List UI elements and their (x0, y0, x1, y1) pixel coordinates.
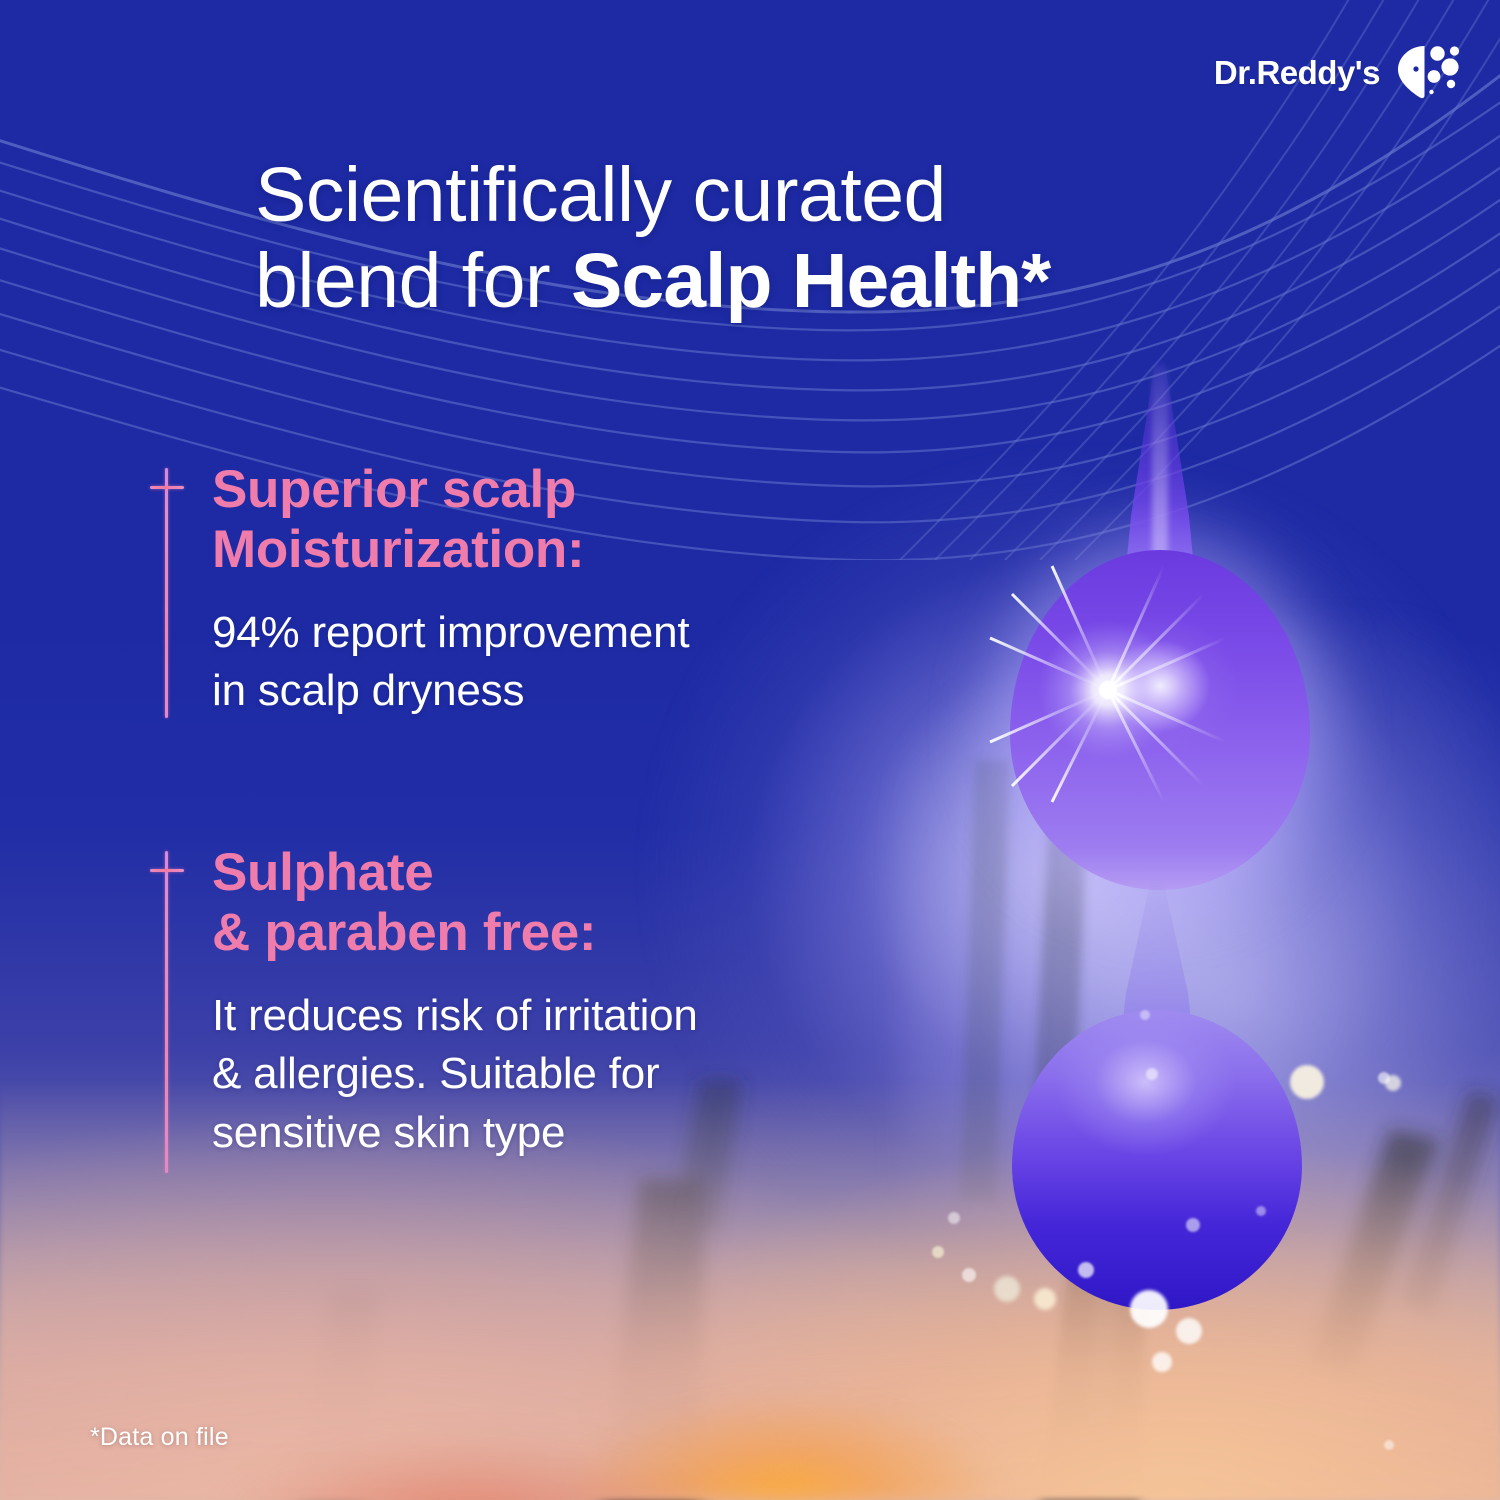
benefit-body: 94% report improvement in scalp dryness (212, 604, 698, 721)
page-title: Scientifically curated blend for Scalp H… (255, 152, 1275, 324)
benefit-body: It reduces risk of irritation & allergie… (212, 987, 698, 1163)
benefit-title: Superior scalp Moisturization: (212, 460, 698, 580)
benefit-title: Sulphate & paraben free: (212, 843, 698, 963)
benefit-list: Superior scalp Moisturization: 94% repor… (150, 460, 698, 1162)
promo-creative: Dr.Reddy's Scientifically curated blend … (0, 0, 1500, 1500)
heart-leaf-dots-icon (1394, 42, 1464, 102)
brand-logo[interactable]: Dr.Reddy's (1214, 42, 1464, 102)
list-item: Superior scalp Moisturization: 94% repor… (150, 460, 698, 721)
list-item: Sulphate & paraben free: It reduces risk… (150, 843, 698, 1162)
headline-line-2-plain: blend for (255, 238, 571, 324)
headline-line-1: Scientifically curated (255, 152, 946, 238)
headline-line-2-bold: Scalp Health* (571, 238, 1050, 324)
footnote: *Data on file (90, 1423, 229, 1452)
brand-name: Dr.Reddy's (1214, 56, 1380, 89)
